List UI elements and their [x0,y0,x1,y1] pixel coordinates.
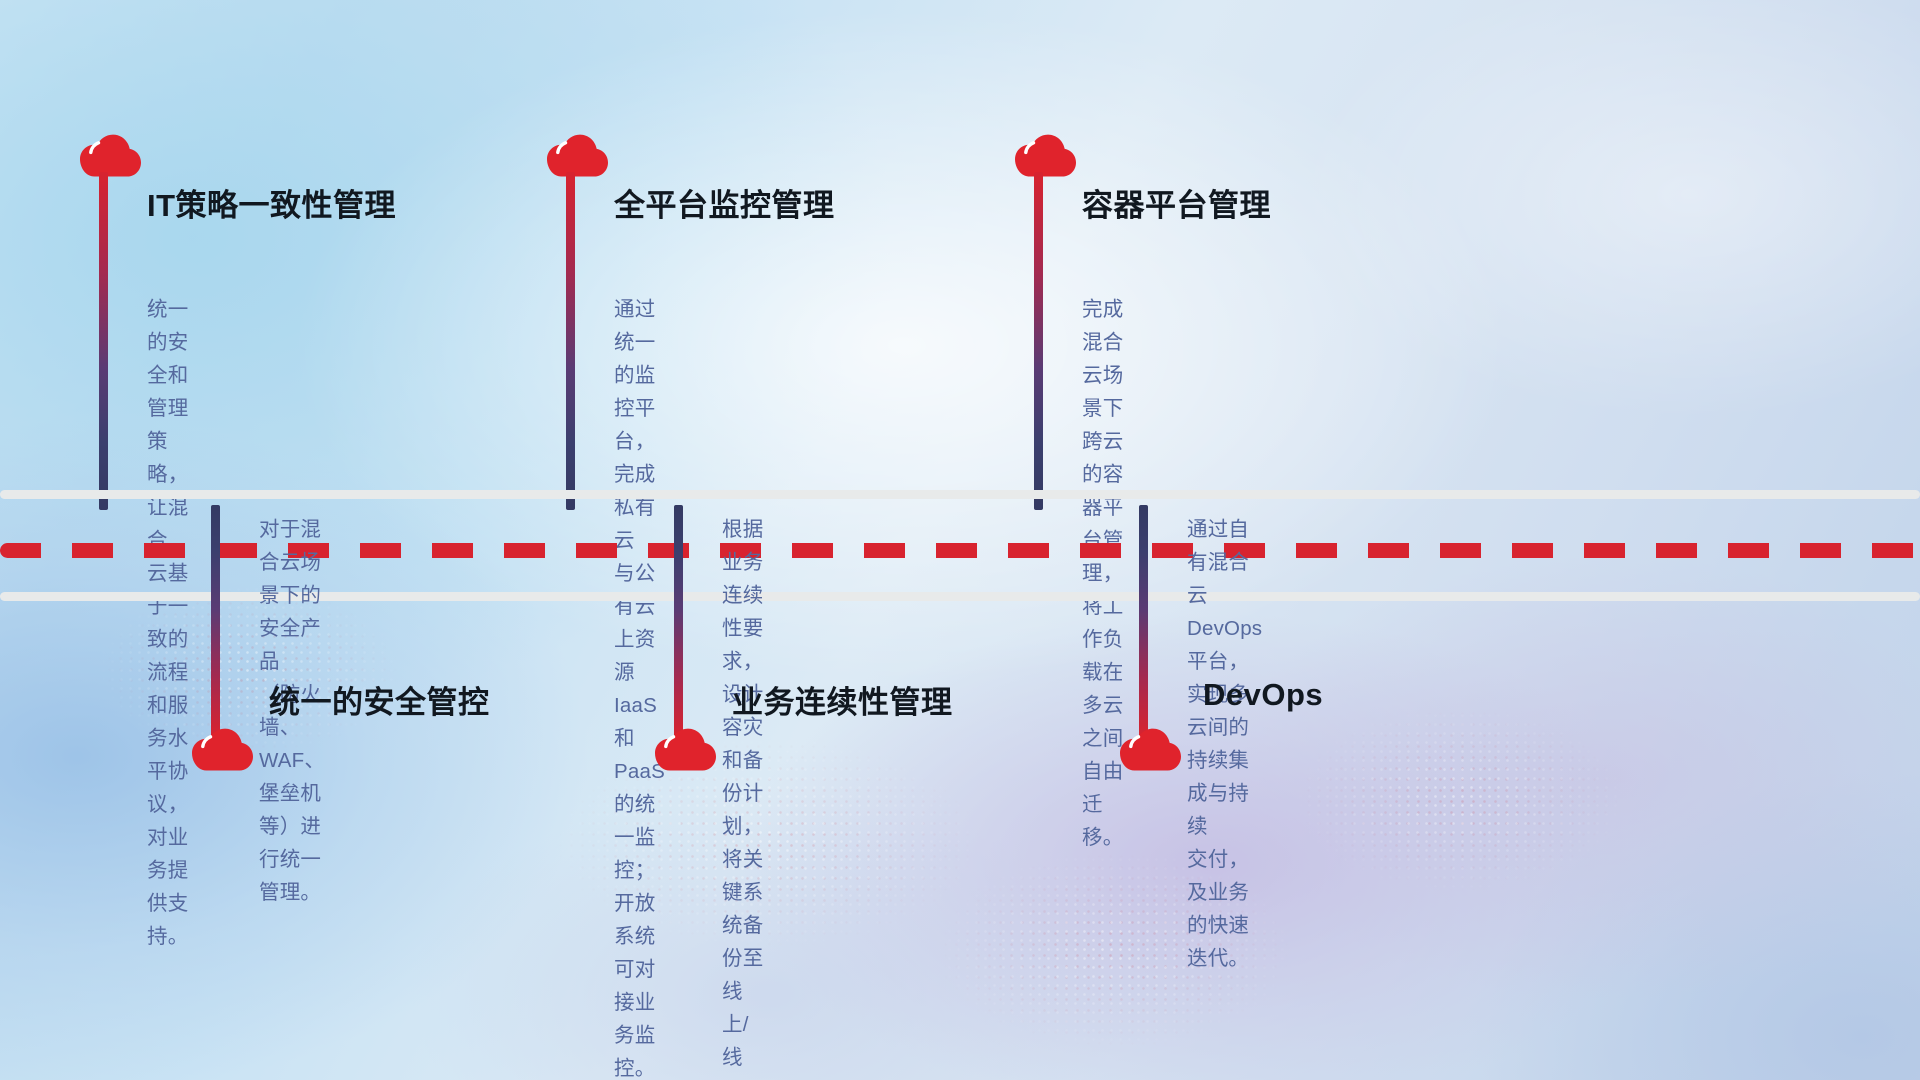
cloud-icon [192,724,254,771]
cloud-icon [1015,130,1077,177]
feature-heading: IT策略一致性管理 [147,180,396,225]
infographic-canvas: IT策略一致性管理 统一的安全和管理策略，让混合 云基于一致的流程和服务水平协 … [0,0,1920,1080]
feature-body: 通过统一的监控平台，完成私有云 与公有云上资源IaaS和PaaS的统 一监控；开… [614,293,665,1080]
cloud-icon [547,130,609,177]
cloud-icon [655,724,717,771]
feature-heading: 业务连续性管理 [732,677,953,722]
feature-body: 统一的安全和管理策略，让混合 云基于一致的流程和服务水平协 议，对业务提供支持。 [147,293,188,953]
feature-body: 根据业务连续性要求，设计容灾 和备份计划，将关键系统备份至 线上/线下，并定期校… [722,513,763,1080]
feature-body: 通过自有混合云DevOps平台， 实现多云间的持续集成与持续 交付，及业务的快速… [1187,513,1262,975]
connector-stem [99,172,108,510]
cloud-icon [1120,724,1182,771]
connector-stem [1034,172,1043,510]
connector-stem [1139,505,1148,737]
feature-heading: 全平台监控管理 [614,180,835,225]
connector-stem [566,172,575,510]
connector-stem [211,505,220,737]
connector-stem [674,505,683,737]
feature-heading: 容器平台管理 [1082,180,1271,225]
feature-body: 完成混合云场景下跨云的容器平 台管理，将工作负载在多云之间 自由迁移。 [1082,293,1123,854]
feature-heading: DevOps [1203,677,1323,713]
feature-heading: 统一的安全管控 [269,677,490,722]
cloud-icon [80,130,142,177]
